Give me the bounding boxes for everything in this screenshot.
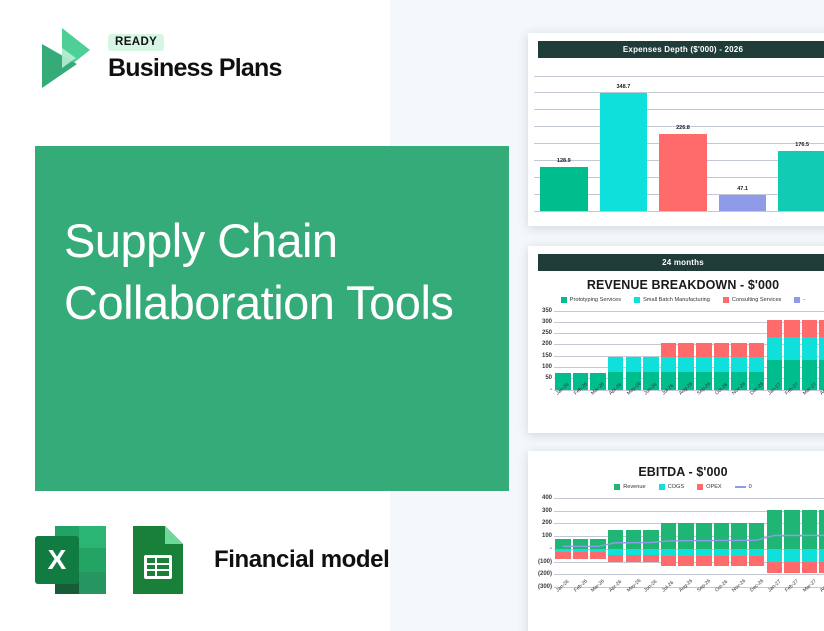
- google-sheets-icon: [127, 524, 189, 596]
- bar-column[interactable]: 176.5: [778, 76, 824, 211]
- ebitda-legend-item: COGS: [659, 484, 684, 490]
- bar-column[interactable]: [714, 311, 730, 390]
- expenses-grid: 128.9348.7226.847.1176.5: [534, 62, 824, 217]
- bar-segment[interactable]: [714, 343, 730, 356]
- bar-segment[interactable]: [767, 337, 783, 360]
- bar-column[interactable]: [626, 311, 642, 390]
- poster-canvas: READY Business Plans Supply Chain Collab…: [0, 0, 824, 631]
- ebitda-y-tick: 200: [542, 520, 552, 526]
- x-tick-wrap: Apr-26: [608, 392, 624, 398]
- x-tick-wrap: Jul-26: [661, 392, 677, 398]
- bar-segment[interactable]: [643, 357, 659, 373]
- bar-column[interactable]: [590, 311, 606, 390]
- x-tick-wrap: Feb-26: [573, 589, 589, 595]
- ebitda-legend-label: Revenue: [623, 484, 645, 490]
- ebitda-legend-label: COGS: [668, 484, 684, 490]
- bar-column[interactable]: 348.7: [600, 76, 648, 211]
- revenue-y-tick: 350: [542, 308, 552, 314]
- ebitda-y-tick: 400: [542, 495, 552, 501]
- ebitda-plot-area: 400300200100-(100)(200)(300)Jan-26Feb-26…: [528, 492, 824, 607]
- bar-segment[interactable]: [802, 320, 818, 337]
- legend-swatch-icon: [723, 297, 729, 303]
- footer-formats: X Financial model: [33, 524, 389, 596]
- expenses-bars: 128.9348.7226.847.1176.5: [534, 76, 824, 211]
- bar-column[interactable]: [749, 311, 765, 390]
- legend-swatch-icon: [794, 297, 800, 303]
- bar-segment[interactable]: [731, 357, 747, 373]
- brand-text: READY Business Plans: [108, 34, 282, 83]
- bar[interactable]: 128.9: [540, 167, 588, 211]
- bar-segment[interactable]: [819, 337, 824, 360]
- revenue-y-tick: 200: [542, 341, 552, 347]
- chart-card-revenue-breakdown[interactable]: 24 months REVENUE BREAKDOWN - $'000 Prot…: [528, 246, 824, 433]
- expenses-banner-title: Expenses Depth ($'000) - 2026: [538, 41, 824, 58]
- revenue-legend-item: Prototyping Services: [561, 297, 621, 303]
- x-tick-wrap: May-26: [626, 392, 642, 398]
- bar-column[interactable]: [767, 311, 783, 390]
- bar-segment[interactable]: [749, 343, 765, 356]
- revenue-y-tick: 250: [542, 330, 552, 336]
- revenue-plot-area: 35030025020015010050-Jan-26Feb-26Mar-26A…: [528, 305, 824, 410]
- bar-segment[interactable]: [802, 337, 818, 360]
- microsoft-excel-icon: X: [33, 524, 108, 596]
- revenue-banner-title: 24 months: [538, 254, 824, 271]
- bar-segment[interactable]: [819, 360, 824, 389]
- bar-segment[interactable]: [696, 343, 712, 356]
- ebitda-x-axis: Jan-26Feb-26Mar-26Apr-26May-26Jun-26Jul-…: [554, 589, 824, 595]
- bar-column[interactable]: [643, 311, 659, 390]
- revenue-legend: Prototyping ServicesSmall Batch Manufact…: [528, 294, 824, 305]
- revenue-y-tick: -: [550, 387, 552, 393]
- ebitda-legend-item: Revenue: [614, 484, 645, 490]
- x-tick-wrap: Jan-27: [767, 589, 783, 595]
- ebitda-y-axis: 400300200100-(100)(200)(300): [528, 492, 554, 607]
- revenue-chart-title: REVENUE BREAKDOWN - $'000: [528, 271, 824, 294]
- bar[interactable]: 348.7: [600, 93, 648, 211]
- x-tick-wrap: Oct-26: [714, 392, 730, 398]
- ebitda-y-tick: 100: [542, 533, 552, 539]
- hero-block: Supply Chain Collaboration Tools: [35, 146, 509, 491]
- bar-column[interactable]: [555, 311, 571, 390]
- revenue-legend-label: Small Batch Manufacturing: [643, 297, 710, 303]
- x-tick-wrap: May-26: [626, 589, 642, 595]
- x-tick-wrap: Mar-26: [590, 589, 606, 595]
- x-tick-wrap: Aug-26: [678, 589, 694, 595]
- bar-segment[interactable]: [678, 357, 694, 373]
- bar-segment[interactable]: [767, 320, 783, 337]
- bar-column[interactable]: [802, 311, 818, 390]
- x-tick-wrap: Jun-26: [643, 589, 659, 595]
- ebitda-y-tick: -: [550, 546, 552, 552]
- bar-column[interactable]: 128.9: [540, 76, 588, 211]
- chart-card-expenses[interactable]: Expenses Depth ($'000) - 2026 128.9348.7…: [528, 33, 824, 226]
- gridline: [534, 211, 824, 212]
- brand-lockup: READY Business Plans: [32, 26, 282, 90]
- page-title: Supply Chain Collaboration Tools: [64, 210, 484, 333]
- x-tick-wrap: Aug-26: [678, 392, 694, 398]
- x-tick-wrap: Dec-26: [749, 589, 765, 595]
- x-tick-wrap: Oct-26: [714, 589, 730, 595]
- ebitda-y-tick: (200): [538, 571, 552, 577]
- x-tick-wrap: Jun-26: [643, 392, 659, 398]
- bar-segment[interactable]: [608, 357, 624, 373]
- bar-column[interactable]: 47.1: [719, 76, 767, 211]
- ebitda-y-tick: (300): [538, 584, 552, 590]
- expenses-plot-area: 128.9348.7226.847.1176.5: [528, 62, 824, 217]
- x-tick-wrap: Apr-26: [608, 589, 624, 595]
- x-tick-wrap: Apr-27: [819, 589, 824, 595]
- bar[interactable]: 176.5: [778, 151, 824, 211]
- ebitda-legend-label: 0: [749, 484, 752, 490]
- revenue-y-tick: 300: [542, 319, 552, 325]
- ebitda-legend-item: OPEX: [697, 484, 722, 490]
- x-tick-wrap: Jan-26: [555, 392, 571, 398]
- bar-value-label: 226.8: [676, 125, 690, 131]
- revenue-legend-label: -: [803, 297, 805, 303]
- bar-segment[interactable]: [678, 343, 694, 356]
- revenue-y-tick: 100: [542, 364, 552, 370]
- x-tick-wrap: Jan-27: [767, 392, 783, 398]
- bar-column[interactable]: [573, 311, 589, 390]
- chart-card-ebitda[interactable]: EBITDA - $'000 RevenueCOGSOPEX0 40030020…: [528, 451, 824, 631]
- ebitda-y-tick: 300: [542, 508, 552, 514]
- brand-name: Business Plans: [108, 54, 282, 83]
- bar-segment[interactable]: [626, 357, 642, 373]
- bar-segment[interactable]: [819, 320, 824, 337]
- bar-column[interactable]: [661, 311, 677, 390]
- bar-column[interactable]: [784, 311, 800, 390]
- legend-swatch-icon: [634, 297, 640, 303]
- ebitda-legend: RevenueCOGSOPEX0: [528, 481, 824, 492]
- legend-swatch-icon: [614, 484, 620, 490]
- x-tick-wrap: Apr-27: [819, 392, 824, 398]
- revenue-x-axis: Jan-26Feb-26Mar-26Apr-26May-26Jun-26Jul-…: [554, 392, 824, 398]
- revenue-bars: [554, 311, 824, 390]
- bar-segment[interactable]: [661, 343, 677, 356]
- x-tick-wrap: Mar-27: [802, 589, 818, 595]
- revenue-y-axis: 35030025020015010050-: [528, 305, 554, 410]
- x-tick-wrap: Nov-26: [731, 392, 747, 398]
- x-tick-wrap: Feb-27: [784, 392, 800, 398]
- x-tick-wrap: Feb-27: [784, 589, 800, 595]
- play-triangle-logo-icon: [32, 26, 94, 90]
- ready-badge: READY: [108, 34, 164, 51]
- legend-swatch-icon: [697, 484, 703, 490]
- footer-label: Financial model: [214, 546, 389, 574]
- x-tick-wrap: Sep-26: [696, 589, 712, 595]
- legend-line-icon: [735, 486, 746, 488]
- revenue-legend-label: Prototyping Services: [570, 297, 621, 303]
- x-tick-wrap: Dec-26: [749, 392, 765, 398]
- bar-segment[interactable]: [784, 337, 800, 360]
- bar-value-label: 47.1: [737, 186, 748, 192]
- x-tick-wrap: Mar-27: [802, 392, 818, 398]
- bar[interactable]: 47.1: [719, 195, 767, 211]
- revenue-y-tick: 50: [545, 375, 552, 381]
- revenue-legend-item: -: [794, 297, 805, 303]
- bar-segment[interactable]: [661, 357, 677, 373]
- revenue-y-tick: 150: [542, 353, 552, 359]
- x-tick-wrap: Sep-26: [696, 392, 712, 398]
- ebitda-chart-title: EBITDA - $'000: [528, 451, 824, 481]
- bar-column[interactable]: [678, 311, 694, 390]
- bar-value-label: 348.7: [616, 84, 630, 90]
- x-tick-wrap: Feb-26: [573, 392, 589, 398]
- revenue-legend-item: Consulting Services: [723, 297, 781, 303]
- bar-segment[interactable]: [714, 357, 730, 373]
- ebitda-grid: [554, 498, 824, 587]
- revenue-grid: [554, 311, 824, 390]
- bar-segment[interactable]: [731, 343, 747, 356]
- bar-segment[interactable]: [784, 320, 800, 337]
- svg-text:X: X: [48, 544, 67, 575]
- bar-column[interactable]: [731, 311, 747, 390]
- bar-value-label: 176.5: [795, 142, 809, 148]
- x-tick-wrap: Jan-26: [555, 589, 571, 595]
- legend-swatch-icon: [659, 484, 665, 490]
- x-tick-wrap: Mar-26: [590, 392, 606, 398]
- ebitda-legend-item: 0: [735, 484, 752, 490]
- x-tick-wrap: Nov-26: [731, 589, 747, 595]
- bar-column[interactable]: [696, 311, 712, 390]
- bar[interactable]: 226.8: [659, 134, 707, 211]
- ebitda-zero-line: [554, 498, 824, 587]
- ebitda-legend-label: OPEX: [706, 484, 722, 490]
- bar-column[interactable]: [608, 311, 624, 390]
- bar-column[interactable]: 226.8: [659, 76, 707, 211]
- revenue-legend-item: Small Batch Manufacturing: [634, 297, 710, 303]
- ebitda-y-tick: (100): [538, 559, 552, 565]
- legend-swatch-icon: [561, 297, 567, 303]
- bar-column[interactable]: [819, 311, 824, 390]
- revenue-legend-label: Consulting Services: [732, 297, 781, 303]
- bar-value-label: 128.9: [557, 158, 571, 164]
- bar-segment[interactable]: [696, 357, 712, 373]
- x-tick-wrap: Jul-26: [661, 589, 677, 595]
- bar-segment[interactable]: [749, 357, 765, 373]
